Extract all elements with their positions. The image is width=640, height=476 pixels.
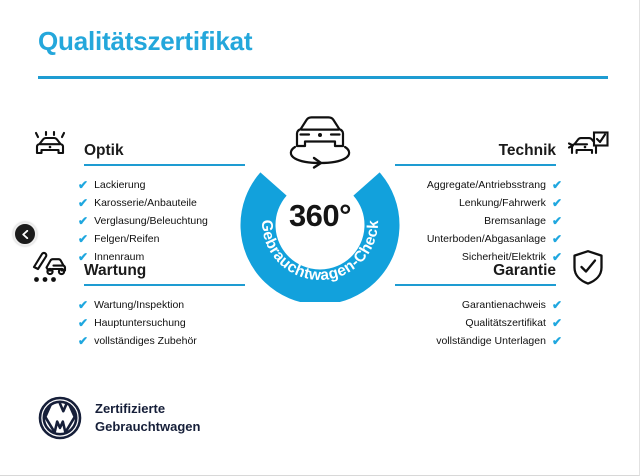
- list-item-label: Hauptuntersuchung: [94, 318, 186, 329]
- check-icon: ✔: [552, 197, 562, 209]
- section-garantie-list: Garantienachweis✔ Qualitätszertifikat✔ v…: [395, 296, 610, 350]
- list-item: vollständige Unterlagen✔: [395, 332, 610, 350]
- check-icon: ✔: [78, 197, 88, 209]
- section-technik-title-wrap: Technik: [395, 128, 566, 168]
- title-divider: [38, 76, 608, 79]
- check-icon: ✔: [552, 299, 562, 311]
- section-optik: Optik ✔Lackierung ✔Karosserie/Anbauteile…: [30, 128, 245, 266]
- list-item: ✔vollständiges Zubehör: [30, 332, 245, 350]
- qualitaetszertifikat-slide: Qualitätszertifikat Optik: [0, 0, 640, 476]
- list-item-label: Verglasung/Beleuchtung: [94, 216, 208, 227]
- section-wartung-title: Wartung: [84, 262, 146, 280]
- list-item-label: Lackierung: [94, 180, 145, 191]
- list-item-label: vollständiges Zubehör: [94, 336, 197, 347]
- section-wartung-list: ✔Wartung/Inspektion ✔Hauptuntersuchung ✔…: [30, 296, 245, 350]
- section-technik: Technik Aggregate/Antriebsstrang✔ Lenkun…: [395, 128, 610, 266]
- vw-brand-line1: Zertifizierte: [95, 400, 200, 418]
- list-item-label: Felgen/Reifen: [94, 234, 159, 245]
- section-wartung-title-wrap: Wartung: [74, 248, 245, 288]
- shield-check-icon: [566, 248, 610, 288]
- list-item: Bremsanlage✔: [395, 212, 610, 230]
- badge-degrees: 360°: [240, 198, 400, 234]
- list-item: Aggregate/Antriebsstrang✔: [395, 176, 610, 194]
- car-lift-icon: [30, 248, 74, 288]
- check-icon: ✔: [552, 215, 562, 227]
- section-wartung: Wartung ✔Wartung/Inspektion ✔Hauptunters…: [30, 248, 245, 350]
- vw-brand-line2: Gebrauchtwagen: [95, 418, 200, 436]
- list-item-label: Unterboden/Abgasanlage: [427, 234, 546, 245]
- section-optik-title: Optik: [84, 142, 124, 160]
- section-garantie: Garantie Garantienachweis✔ Qualitätszert…: [395, 248, 610, 350]
- section-wartung-header: Wartung: [30, 248, 245, 288]
- section-garantie-title-wrap: Garantie: [395, 248, 566, 288]
- check-icon: ✔: [78, 335, 88, 347]
- list-item: ✔Verglasung/Beleuchtung: [30, 212, 245, 230]
- section-optik-title-wrap: Optik: [74, 128, 245, 168]
- check-icon: ✔: [78, 215, 88, 227]
- chevron-left-icon: [21, 230, 30, 239]
- list-item: ✔Felgen/Reifen: [30, 230, 245, 248]
- section-technik-title: Technik: [499, 142, 556, 160]
- car-checkbox-icon: [566, 128, 610, 168]
- section-technik-underline: [395, 164, 556, 166]
- check-icon: ✔: [552, 179, 562, 191]
- section-optik-header: Optik: [30, 128, 245, 168]
- list-item-label: Lenkung/Fahrwerk: [459, 198, 546, 209]
- section-garantie-header: Garantie: [395, 248, 610, 288]
- list-item-label: vollständige Unterlagen: [436, 336, 546, 347]
- section-optik-underline: [84, 164, 245, 166]
- check-icon: ✔: [78, 299, 88, 311]
- check-icon: ✔: [78, 317, 88, 329]
- section-wartung-underline: [84, 284, 245, 286]
- car-polish-icon: [30, 128, 74, 168]
- list-item-label: Bremsanlage: [484, 216, 546, 227]
- section-garantie-underline: [395, 284, 556, 286]
- car-rotate-icon: [278, 108, 362, 170]
- section-garantie-title: Garantie: [493, 262, 556, 280]
- check-icon: ✔: [552, 317, 562, 329]
- vw-brand-footer: Zertifizierte Gebrauchtwagen: [38, 396, 200, 440]
- list-item: Qualitätszertifikat✔: [395, 314, 610, 332]
- list-item: ✔Lackierung: [30, 176, 245, 194]
- list-item-label: Qualitätszertifikat: [465, 318, 546, 329]
- list-item-label: Aggregate/Antriebsstrang: [427, 180, 546, 191]
- vw-logo-icon: [38, 396, 82, 440]
- check-icon: ✔: [78, 179, 88, 191]
- check-icon: ✔: [78, 233, 88, 245]
- list-item-label: Karosserie/Anbauteile: [94, 198, 197, 209]
- carousel-prev-button[interactable]: [13, 222, 37, 246]
- check-icon: ✔: [552, 335, 562, 347]
- check-icon: ✔: [552, 233, 562, 245]
- list-item: Garantienachweis✔: [395, 296, 610, 314]
- list-item: ✔Hauptuntersuchung: [30, 314, 245, 332]
- page-title: Qualitätszertifikat: [38, 26, 252, 57]
- vw-brand-text: Zertifizierte Gebrauchtwagen: [95, 400, 200, 435]
- list-item: ✔Wartung/Inspektion: [30, 296, 245, 314]
- list-item-label: Garantienachweis: [462, 300, 546, 311]
- section-technik-header: Technik: [395, 128, 610, 168]
- list-item-label: Wartung/Inspektion: [94, 300, 184, 311]
- list-item: Lenkung/Fahrwerk✔: [395, 194, 610, 212]
- list-item: ✔Karosserie/Anbauteile: [30, 194, 245, 212]
- list-item: Unterboden/Abgasanlage✔: [395, 230, 610, 248]
